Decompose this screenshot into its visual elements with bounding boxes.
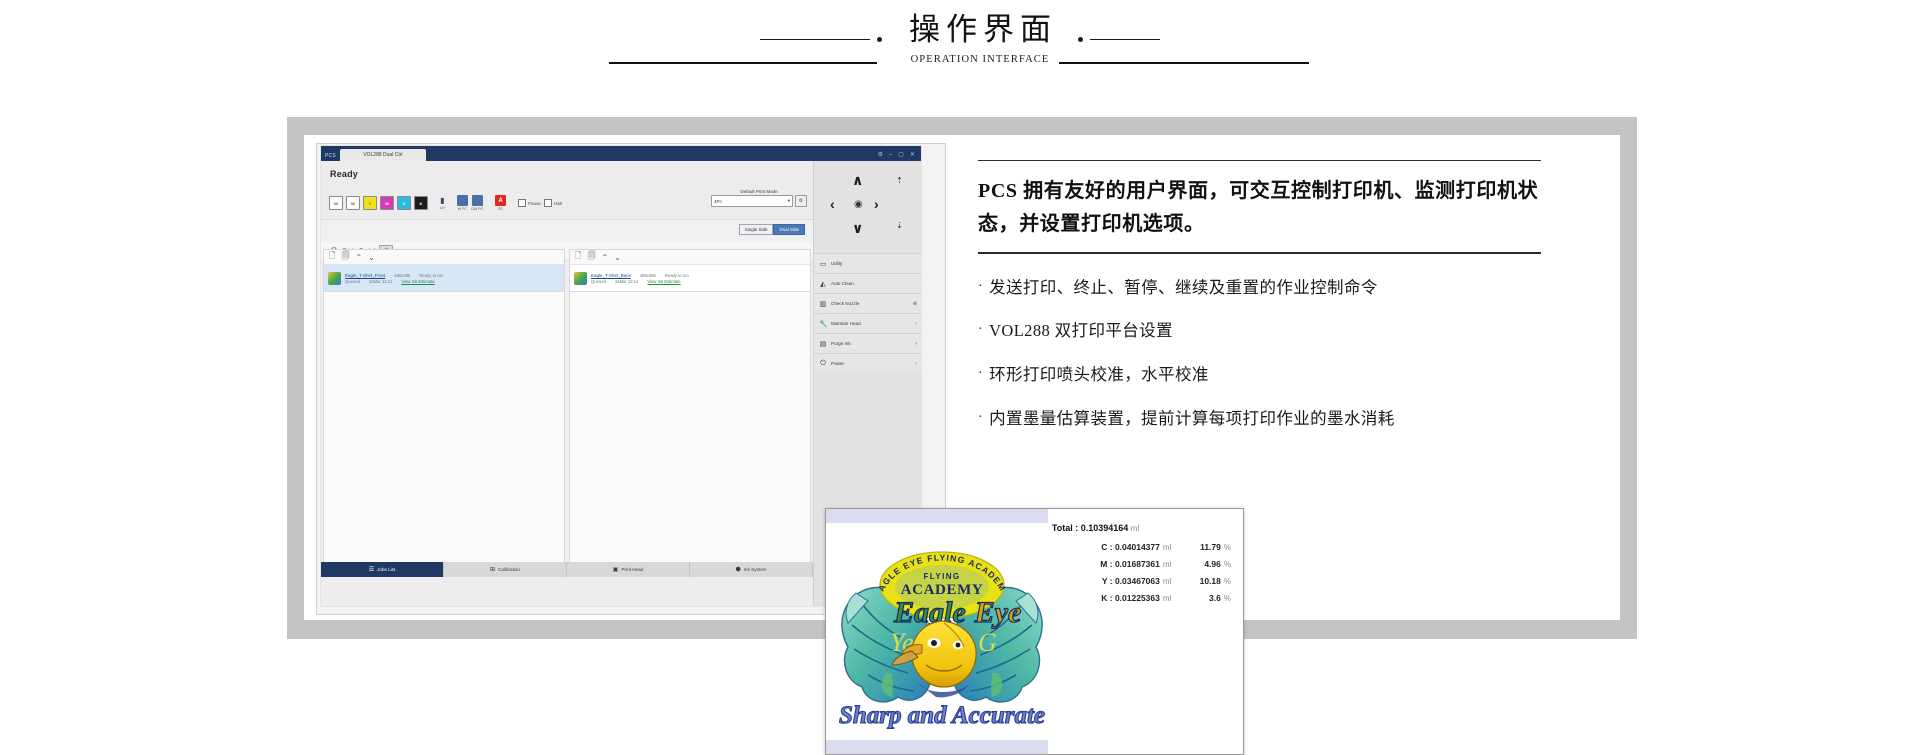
- sidebar-arrow: ›: [915, 341, 917, 347]
- job-state: Queued: [345, 279, 360, 284]
- job-status: Ready to run: [665, 273, 689, 278]
- percent-symbol: %: [1221, 577, 1231, 586]
- ink-values: Total : 0.10394164 ml C : 0.04014377 ml …: [1048, 509, 1243, 754]
- percent-symbol: %: [1221, 560, 1231, 569]
- tab-jobs-label: Jobs List: [377, 567, 395, 572]
- percent-symbol: %: [1221, 543, 1231, 552]
- job-size: 485x385: [394, 273, 410, 278]
- feature-text: 发送打印、终止、暂停、继续及重置的作业控制命令: [989, 278, 1378, 298]
- nav-left-icon[interactable]: ‹: [830, 197, 835, 211]
- header-dot-left: [877, 37, 882, 42]
- sidebar-item-label: Check Nozzle: [831, 301, 909, 306]
- ink-total-value: 0.10394164: [1081, 523, 1129, 533]
- pane-toolbar-left: 🗋 🗐 ⌃ ⌄: [324, 250, 564, 265]
- sidebar-item-purge-ink[interactable]: ▤ Purge Ink ›: [814, 333, 921, 353]
- ink-estimate-panel: ★ EAGLE EYE FLYING ACADEMY ★ FLYING ACAD…: [825, 508, 1244, 755]
- ink-percent-k: 3.6: [1185, 593, 1221, 603]
- tab-calibration[interactable]: ⊞ Calibration: [444, 562, 567, 577]
- feature-item-2: · VOL288 双打印平台设置: [978, 321, 1558, 341]
- bullet-icon: ·: [978, 365, 983, 383]
- sidebar-item-auto-clean[interactable]: ◭ Auto Clean: [814, 273, 921, 293]
- artwork-small-line: FLYING: [924, 572, 961, 581]
- white-pass-button[interactable]: W PC: [457, 195, 468, 211]
- head-icon: ▣: [613, 566, 619, 573]
- percent-symbol: %: [1221, 594, 1231, 603]
- power-icon: ⏻: [819, 360, 827, 368]
- bullet-icon: ·: [978, 278, 983, 296]
- nav-down-icon[interactable]: ∨: [852, 221, 863, 235]
- job-time: 15Mar 13:14: [615, 279, 639, 284]
- move-up-icon[interactable]: ⌃: [601, 253, 608, 262]
- drop-icon: ◭: [819, 280, 827, 288]
- chevron-down-icon: ▾: [788, 198, 790, 204]
- copy-file-icon[interactable]: 🗐: [587, 250, 595, 264]
- feature-item-1: · 发送打印、终止、暂停、继续及重置的作业控制命令: [978, 278, 1558, 298]
- cartridge-icon: ▤: [819, 340, 827, 348]
- ink-total-row: Total : 0.10394164 ml: [1048, 523, 1231, 533]
- sidebar-arrow: ›: [915, 361, 917, 367]
- status-row: Ready: [321, 161, 813, 187]
- target-icon: ⊞: [490, 566, 495, 573]
- tab-ink-system[interactable]: ⬢ Ink System: [690, 562, 813, 577]
- feature-text: VOL288 双打印平台设置: [989, 321, 1173, 341]
- job-size: 485x385: [640, 273, 656, 278]
- preview-band-bottom: [826, 740, 1048, 754]
- bullet-icon: ·: [978, 321, 983, 339]
- nav-center-icon[interactable]: ◉: [854, 200, 863, 210]
- navigation-pad: ∧ ‹ ◉ › ∨ ⇡ ⇣: [814, 161, 921, 253]
- dual-side-button[interactable]: Dual Side: [773, 224, 805, 235]
- status-text: Ready: [330, 169, 358, 179]
- sidebar-arrow: ⊕: [913, 301, 917, 307]
- wrench-icon: 🔧: [819, 320, 827, 328]
- feature-text: 环形打印喷头校准，水平校准: [989, 365, 1209, 385]
- maximize-icon[interactable]: ▢: [898, 151, 904, 158]
- ink-total-unit: ml: [1131, 524, 1139, 533]
- eagle-artwork: ★ EAGLE EYE FLYING ACADEMY ★ FLYING ACAD…: [826, 523, 1048, 739]
- ink-row-y: Y : 0.03467063 ml 10.18 %: [1048, 576, 1231, 586]
- move-up-icon[interactable]: ⌃: [355, 253, 362, 262]
- description-rule-bottom: [978, 252, 1541, 253]
- sidebar-item-utility[interactable]: ▭ Utility: [814, 253, 921, 273]
- ink-row-k: K : 0.01225363 ml 3.6 %: [1048, 593, 1231, 603]
- app-footer: [321, 577, 813, 606]
- job-panes: 🗋 🗐 ⌃ ⌄ Eagle_T-Shirt_Front: [321, 247, 813, 577]
- ink-row-m: M : 0.01687361 ml 4.96 %: [1048, 559, 1231, 569]
- ink-chip-w1[interactable]: W: [329, 196, 343, 210]
- gear-icon[interactable]: ⚙: [878, 151, 883, 158]
- job-status: Ready to run: [419, 273, 443, 278]
- job-pane-left: 🗋 🗐 ⌃ ⌄ Eagle_T-Shirt_Front: [323, 249, 565, 575]
- print-mode-value: 4Pc: [714, 199, 722, 204]
- nav-z-up-icon[interactable]: ⇡: [896, 176, 903, 185]
- print-mode-settings-icon[interactable]: ⚙: [795, 195, 807, 207]
- job-name[interactable]: Eagle_T-Shirt_Back: [591, 273, 631, 278]
- description-rule-top: [978, 160, 1541, 161]
- ink-icon: ⬢: [736, 566, 741, 573]
- description-heading: PCS 拥有友好的用户界面，可交互控制打印机、监测打印机状态，并设置打印机选项。: [978, 175, 1558, 240]
- close-icon[interactable]: ✕: [910, 151, 915, 158]
- color-pass-button[interactable]: C/M PC: [471, 195, 483, 211]
- minimize-icon[interactable]: –: [889, 152, 892, 158]
- tray-icon: ▭: [819, 260, 827, 268]
- move-down-icon[interactable]: ⌄: [614, 253, 621, 262]
- tab-calibration-label: Calibration: [498, 567, 520, 572]
- add-file-icon[interactable]: 🗋: [575, 250, 581, 264]
- preview-band-top: [826, 509, 1048, 523]
- sidebar-item-label: Utility: [831, 261, 913, 266]
- job-list-item[interactable]: Eagle_T-Shirt_Back 485x385 Ready to run …: [570, 265, 810, 292]
- header-rule-left: [760, 39, 870, 40]
- ink-unit-m: ml: [1160, 560, 1185, 569]
- ink-unit-c: ml: [1160, 543, 1185, 552]
- ink-chip-k[interactable]: K: [414, 196, 428, 210]
- header-underline-left: [609, 62, 877, 64]
- ink-key-k: K :: [1101, 593, 1112, 603]
- side-mode-segmented: Single Side Dual Side: [739, 224, 805, 235]
- print-mode-select[interactable]: 4Pc ▾: [711, 195, 793, 207]
- job-time: 15Mar 13:12: [369, 279, 393, 284]
- ink-row-c: C : 0.04014377 ml 11.79 %: [1048, 542, 1231, 552]
- ink-percent-m: 4.96: [1185, 559, 1221, 569]
- artwork-bottom-text: Sharp and Accurate: [839, 702, 1045, 729]
- sidebar-arrow: ›: [915, 321, 917, 327]
- print-mode-label: Default Print Mode: [711, 189, 807, 194]
- page-title: 操作界面: [903, 14, 1057, 47]
- app-brand: PCS: [321, 153, 340, 161]
- ink-value-m: 0.01687361: [1115, 559, 1160, 569]
- ink-chip-w2[interactable]: W: [346, 196, 360, 210]
- ink-key-y: Y :: [1102, 576, 1113, 586]
- page-header: 操作界面 OPERATION INTERFACE: [0, 0, 1920, 95]
- pane-toolbar-right: 🗋 🗐 ⌃ ⌄: [570, 250, 810, 265]
- tab-ink-system-label: Ink System: [744, 567, 767, 572]
- artwork-title-2: Eye: [974, 596, 1022, 629]
- job-thumbnail: [574, 272, 587, 285]
- sidebar-item-maintain-head[interactable]: 🔧 Maintain Head ›: [814, 313, 921, 333]
- sidebar-item-label: Auto Clean: [831, 281, 913, 286]
- job-state: Queued: [591, 279, 606, 284]
- copy-file-icon[interactable]: 🗐: [341, 250, 349, 264]
- ink-chip-c[interactable]: C: [397, 196, 411, 210]
- feature-item-3: · 环形打印喷头校准，水平校准: [978, 365, 1558, 385]
- job-name[interactable]: Eagle_T-Shirt_Front: [345, 273, 385, 278]
- ink-key-c: C :: [1101, 542, 1112, 552]
- header-rule-right: [1090, 39, 1160, 40]
- sidebar-item-check-nozzle[interactable]: ▥ Check Nozzle ⊕: [814, 293, 921, 313]
- app-tab[interactable]: VOL288 Dual Ctrl: [340, 149, 426, 161]
- pause-checkbox[interactable]: Pause: [518, 199, 541, 207]
- job-thumbnail: [328, 272, 341, 285]
- ink-total-key: Total :: [1052, 523, 1078, 533]
- description-panel: PCS 拥有友好的用户界面，可交互控制打印机、监测打印机状态，并设置打印机选项。…: [978, 160, 1558, 453]
- sidebar-item-label: Power: [831, 361, 911, 366]
- ink-chip-m[interactable]: M: [380, 196, 394, 210]
- print-mode-group: Default Print Mode 4Pc ▾ ⚙: [711, 189, 807, 207]
- uv-lamp-button[interactable]: ▮UV: [440, 197, 445, 210]
- page-subtitle: OPERATION INTERFACE: [911, 54, 1050, 65]
- halt-checkbox[interactable]: Halt: [544, 199, 562, 207]
- nav-right-icon[interactable]: ›: [874, 197, 879, 211]
- move-down-icon[interactable]: ⌄: [368, 253, 375, 262]
- ink-value-y: 0.03467063: [1115, 576, 1160, 586]
- stop-button[interactable]: AE1: [495, 195, 506, 211]
- sidebar-item-power[interactable]: ⏻ Power ›: [814, 353, 921, 373]
- ink-chip-y[interactable]: Y: [363, 196, 377, 210]
- tab-jobs[interactable]: ☰ Jobs List: [321, 562, 444, 577]
- tab-print-head[interactable]: ▣ Print Head: [567, 562, 690, 577]
- job-list-item[interactable]: Eagle_T-Shirt_Front 485x385 Ready to run…: [324, 265, 564, 292]
- sidebar-item-label: Purge Ink: [831, 341, 911, 346]
- feature-item-4: · 内置墨量估算装置，提前计算每项打印作业的墨水消耗: [978, 409, 1558, 429]
- list-icon: ☰: [369, 566, 374, 573]
- job-ink-estimate-link[interactable]: View Ink Estimate: [647, 279, 680, 284]
- ink-value-c: 0.04014377: [1115, 542, 1160, 552]
- ink-unit-k: ml: [1160, 594, 1185, 603]
- header-underline-right: [1059, 62, 1309, 64]
- single-side-button[interactable]: Single Side: [739, 224, 774, 235]
- svg-text:G: G: [978, 628, 997, 657]
- grid-icon: ▥: [819, 300, 827, 308]
- app-titlebar: PCS VOL288 Dual Ctrl ⚙ – ▢ ✕: [321, 146, 921, 161]
- nav-z-down-icon[interactable]: ⇣: [896, 221, 903, 230]
- bottom-tab-bar: ☰ Jobs List ⊞ Calibration ▣ Print Head: [321, 562, 813, 577]
- header-dot-right: [1078, 37, 1083, 42]
- ink-key-m: M :: [1100, 559, 1112, 569]
- add-file-icon[interactable]: 🗋: [329, 250, 335, 264]
- nav-up-icon[interactable]: ∧: [852, 173, 863, 187]
- ink-unit-y: ml: [1160, 577, 1185, 586]
- ink-value-k: 0.01225363: [1115, 593, 1160, 603]
- job-ink-estimate-link[interactable]: View Ink Estimate: [401, 279, 434, 284]
- bullet-icon: ·: [978, 409, 983, 427]
- ink-percent-y: 10.18: [1185, 576, 1221, 586]
- app-main-column: Ready W W Y M C K ▮UV W PC: [321, 161, 813, 606]
- tab-print-head-label: Print Head: [621, 567, 643, 572]
- sidebar-item-label: Maintain Head: [831, 321, 911, 326]
- feature-text: 内置墨量估算装置，提前计算每项打印作业的墨水消耗: [989, 409, 1395, 429]
- ink-percent-c: 11.79: [1185, 542, 1221, 552]
- artwork-preview: ★ EAGLE EYE FLYING ACADEMY ★ FLYING ACAD…: [826, 509, 1048, 754]
- job-pane-right: 🗋 🗐 ⌃ ⌄ Eagle_T-Shirt_Back: [569, 249, 811, 575]
